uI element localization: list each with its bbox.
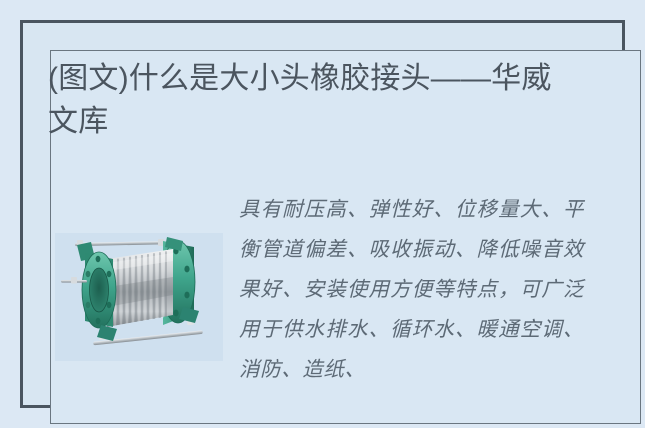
page-canvas: (图文)什么是大小头橡胶接头——华威文库	[0, 0, 645, 428]
bellows	[107, 249, 173, 327]
product-image	[55, 233, 223, 361]
body-text: 具有耐压高、弹性好、位移量大、平衡管道偏差、吸收振动、降低噪音效果好、安装使用方…	[239, 190, 584, 390]
expansion-joint-illustration	[55, 233, 223, 361]
flange-left	[82, 252, 116, 328]
page-title: (图文)什么是大小头橡胶接头——华威文库	[48, 58, 578, 143]
